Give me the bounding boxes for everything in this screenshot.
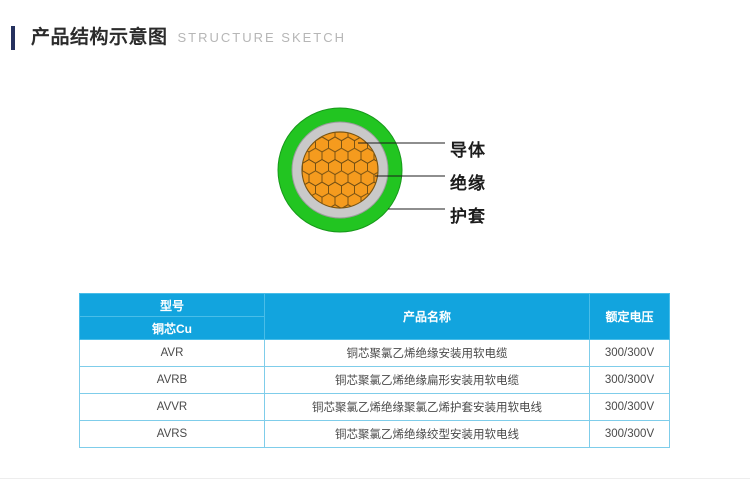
table-row: AVRS 铜芯聚氯乙烯绝缘绞型安装用软电线 300/300V	[80, 421, 670, 448]
section-header: 产品结构示意图 STRUCTURE SKETCH	[11, 26, 346, 50]
cell-product-name: 铜芯聚氯乙烯绝缘聚氯乙烯护套安装用软电线	[265, 394, 590, 421]
cell-voltage: 300/300V	[590, 394, 670, 421]
label-jacket: 护套	[450, 202, 486, 227]
table-row: AVVR 铜芯聚氯乙烯绝缘聚氯乙烯护套安装用软电线 300/300V	[80, 394, 670, 421]
label-conductor: 导体	[450, 136, 486, 161]
cell-voltage: 300/300V	[590, 340, 670, 367]
cell-model: AVRB	[80, 367, 265, 394]
cell-product-name: 铜芯聚氯乙烯绝缘安装用软电缆	[265, 340, 590, 367]
cell-product-name: 铜芯聚氯乙烯绝缘绞型安装用软电线	[265, 421, 590, 448]
table-row: AVRB 铜芯聚氯乙烯绝缘扁形安装用软电缆 300/300V	[80, 367, 670, 394]
specification-table: 型号 产品名称 额定电压 铜芯Cu AVR 铜芯聚氯乙烯绝缘安装用软电缆 300…	[79, 293, 670, 448]
cell-voltage: 300/300V	[590, 367, 670, 394]
bottom-divider	[0, 478, 750, 479]
page-title: 产品结构示意图	[31, 26, 168, 50]
table-row: AVR 铜芯聚氯乙烯绝缘安装用软电缆 300/300V	[80, 340, 670, 367]
column-header-product-name: 产品名称	[265, 294, 590, 340]
cell-model: AVRS	[80, 421, 265, 448]
cell-model: AVR	[80, 340, 265, 367]
column-header-model-top: 型号	[80, 294, 265, 317]
accent-bar	[11, 26, 15, 50]
label-insulation: 绝缘	[450, 169, 486, 194]
cable-cross-section-diagram: 导体 绝缘 护套	[270, 103, 510, 238]
cell-product-name: 铜芯聚氯乙烯绝缘扁形安装用软电缆	[265, 367, 590, 394]
column-header-rated-voltage: 额定电压	[590, 294, 670, 340]
page-subtitle: STRUCTURE SKETCH	[178, 27, 347, 50]
cell-voltage: 300/300V	[590, 421, 670, 448]
table-header-row-top: 型号 产品名称 额定电压	[80, 294, 670, 317]
cell-model: AVVR	[80, 394, 265, 421]
column-header-model-bottom: 铜芯Cu	[80, 317, 265, 340]
